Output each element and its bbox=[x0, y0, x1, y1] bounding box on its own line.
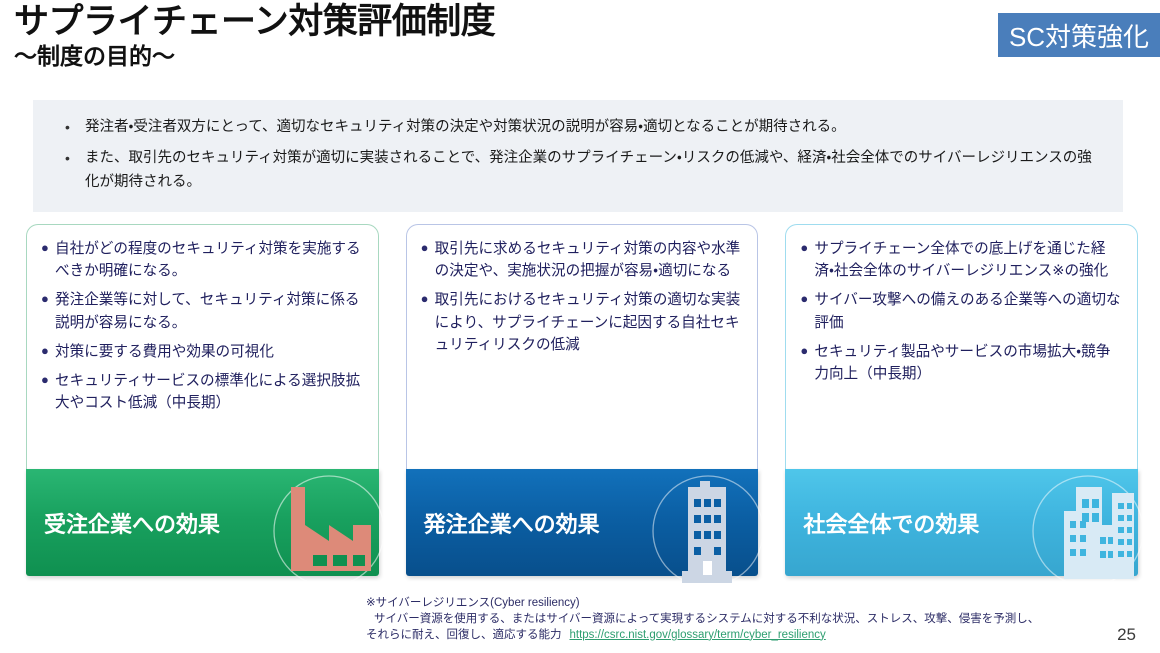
bullet-marker-icon: ● bbox=[41, 370, 55, 390]
card-bullet-text: セキュリティ製品やサービスの市場拡大・競争力向上（中長期） bbox=[814, 341, 1123, 385]
card-body: ● 取引先に求めるセキュリティ対策の内容や水準の決定や、実施状況の把握が容易・適… bbox=[406, 224, 759, 469]
footnote-line-3: それらに耐え、回復し、適応する能力https://csrc.nist.gov/g… bbox=[366, 628, 1066, 644]
benefit-card-buyer: ● 取引先に求めるセキュリティ対策の内容や水準の決定や、実施状況の把握が容易・適… bbox=[406, 224, 759, 576]
card-bullet-text: 取引先におけるセキュリティ対策の適切な実装により、サプライチェーンに起因する自社… bbox=[435, 289, 744, 356]
bullet-marker-icon: • bbox=[59, 147, 85, 170]
page-number: 25 bbox=[1117, 625, 1136, 645]
card-bullet-text: 対策に要する費用や効果の可視化 bbox=[55, 341, 364, 363]
intro-bullet: • 発注者・受注者双方にとって、適切なセキュリティ対策の決定や対策状況の説明が容… bbox=[59, 116, 1097, 139]
intro-bullet-text: また、取引先のセキュリティ対策が適切に実装されることで、発注企業のサプライチェー… bbox=[85, 147, 1097, 194]
card-bullet: ● 発注企業等に対して、セキュリティ対策に係る説明が容易になる。 bbox=[41, 289, 364, 333]
factory-icon bbox=[259, 453, 399, 593]
slide-canvas: サプライチェーン対策評価制度 〜制度の目的〜 SC対策強化 • 発注者・受注者双… bbox=[0, 0, 1160, 653]
status-badge: SC対策強化 bbox=[998, 13, 1160, 57]
title-block: サプライチェーン対策評価制度 〜制度の目的〜 bbox=[14, 2, 914, 71]
card-bullet: ● セキュリティサービスの標準化による選択肢拡大やコスト低減（中長期） bbox=[41, 370, 364, 414]
card-body: ● 自社がどの程度のセキュリティ対策を実施するべきか明確になる。 ● 発注企業等… bbox=[26, 224, 379, 469]
intro-panel: • 発注者・受注者双方にとって、適切なセキュリティ対策の決定や対策状況の説明が容… bbox=[33, 100, 1123, 212]
card-band-buyer: 発注企業への効果 bbox=[406, 469, 759, 576]
card-bullet: ● 自社がどの程度のセキュリティ対策を実施するべきか明確になる。 bbox=[41, 238, 364, 282]
card-bullet: ● 対策に要する費用や効果の可視化 bbox=[41, 341, 364, 363]
footnote-line-1: ※サイバーレジリエンス(Cyber resiliency) bbox=[366, 596, 1066, 612]
card-body: ● サプライチェーン全体での底上げを通じた経済・社会全体のサイバーレジリエンス※… bbox=[785, 224, 1138, 469]
page-subtitle: 〜制度の目的〜 bbox=[14, 43, 914, 71]
bullet-marker-icon: • bbox=[59, 116, 85, 139]
bullet-marker-icon: ● bbox=[421, 289, 435, 309]
card-band-label: 受注企業への効果 bbox=[26, 507, 220, 539]
card-bullet: ● 取引先に求めるセキュリティ対策の内容や水準の決定や、実施状況の把握が容易・適… bbox=[421, 238, 744, 282]
bullet-marker-icon: ● bbox=[41, 341, 55, 361]
page-title: サプライチェーン対策評価制度 bbox=[14, 2, 914, 41]
card-band-supplier: 受注企業への効果 bbox=[26, 469, 379, 576]
benefit-card-supplier: ● 自社がどの程度のセキュリティ対策を実施するべきか明確になる。 ● 発注企業等… bbox=[26, 224, 379, 576]
card-bullet-text: セキュリティサービスの標準化による選択肢拡大やコスト低減（中長期） bbox=[55, 370, 364, 414]
card-bullet-text: サプライチェーン全体での底上げを通じた経済・社会全体のサイバーレジリエンス※の強… bbox=[814, 238, 1123, 282]
bullet-marker-icon: ● bbox=[800, 238, 814, 258]
card-bullet-text: 自社がどの程度のセキュリティ対策を実施するべきか明確になる。 bbox=[55, 238, 364, 282]
bullet-marker-icon: ● bbox=[800, 341, 814, 361]
card-band-society: 社会全体での効果 bbox=[785, 469, 1138, 576]
card-bullet: ● 取引先におけるセキュリティ対策の適切な実装により、サプライチェーンに起因する… bbox=[421, 289, 744, 356]
bullet-marker-icon: ● bbox=[41, 289, 55, 309]
office-building-icon bbox=[638, 453, 778, 593]
card-band-label: 社会全体での効果 bbox=[785, 507, 979, 539]
card-bullet: ● サプライチェーン全体での底上げを通じた経済・社会全体のサイバーレジリエンス※… bbox=[800, 238, 1123, 282]
benefit-cards-row: ● 自社がどの程度のセキュリティ対策を実施するべきか明確になる。 ● 発注企業等… bbox=[26, 224, 1138, 576]
bullet-marker-icon: ● bbox=[800, 289, 814, 309]
footnote: ※サイバーレジリエンス(Cyber resiliency) サイバー資源を使用す… bbox=[366, 596, 1066, 644]
card-bullet-text: 発注企業等に対して、セキュリティ対策に係る説明が容易になる。 bbox=[55, 289, 364, 333]
card-bullet-text: 取引先に求めるセキュリティ対策の内容や水準の決定や、実施状況の把握が容易・適切に… bbox=[435, 238, 744, 282]
card-bullet: ● セキュリティ製品やサービスの市場拡大・競争力向上（中長期） bbox=[800, 341, 1123, 385]
footnote-line-2: サイバー資源を使用する、またはサイバー資源によって実現するシステムに対する不利な… bbox=[366, 612, 1066, 628]
card-bullet: ● サイバー攻撃への備えのある企業等への適切な評価 bbox=[800, 289, 1123, 333]
bullet-marker-icon: ● bbox=[421, 238, 435, 258]
intro-bullet: • また、取引先のセキュリティ対策が適切に実装されることで、発注企業のサプライチ… bbox=[59, 147, 1097, 194]
cityscape-icon bbox=[1018, 453, 1158, 593]
bullet-marker-icon: ● bbox=[41, 238, 55, 258]
benefit-card-society: ● サプライチェーン全体での底上げを通じた経済・社会全体のサイバーレジリエンス※… bbox=[785, 224, 1138, 576]
intro-bullet-text: 発注者・受注者双方にとって、適切なセキュリティ対策の決定や対策状況の説明が容易・… bbox=[85, 116, 1097, 139]
footnote-link[interactable]: https://csrc.nist.gov/glossary/term/cybe… bbox=[570, 629, 826, 641]
card-bullet-text: サイバー攻撃への備えのある企業等への適切な評価 bbox=[814, 289, 1123, 333]
footnote-line-3-text: それらに耐え、回復し、適応する能力 bbox=[366, 629, 562, 641]
card-band-label: 発注企業への効果 bbox=[406, 507, 600, 539]
